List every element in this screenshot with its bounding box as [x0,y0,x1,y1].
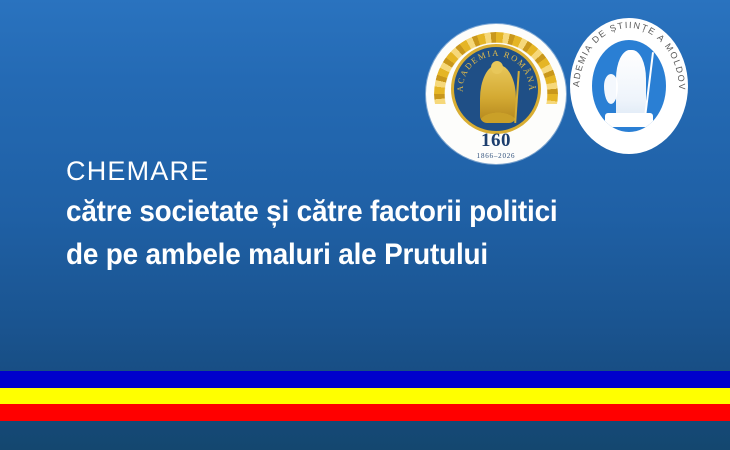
svg-text:ACADEMIA ROMÂNĂ: ACADEMIA ROMÂNĂ [455,48,537,92]
seal-ring-text: ACADEMIA DE ȘTIINȚE A MOLDOVEI [570,18,688,154]
announcement-banner: ACADEMIA ROMÂNĂ 160 1866–2026 [0,0,730,450]
headline-line-2: către societate și către factorii politi… [66,190,643,233]
headline-line-3: de pe ambele maluri ale Prutului [66,233,643,276]
headline-kicker: CHEMARE [66,152,686,190]
emblem-group: ACADEMIA ROMÂNĂ 160 1866–2026 [420,14,710,169]
academia-de-stiinte-a-moldovei-seal-icon: ACADEMIA DE ȘTIINȚE A MOLDOVEI [570,18,688,154]
academia-romana-seal-icon: ACADEMIA ROMÂNĂ 160 1866–2026 [426,24,566,164]
anniversary-number: 160 [426,132,566,150]
stripe-blue [0,371,730,388]
seal-ring-text: ACADEMIA ROMÂNĂ [451,44,541,134]
headline-block: CHEMARE către societate și către factori… [66,152,686,276]
stripe-red [0,404,730,421]
stripe-yellow [0,388,730,404]
romanian-tricolor-stripes [0,371,730,421]
svg-text:ACADEMIA DE ȘTIINȚE A MOLDOVEI: ACADEMIA DE ȘTIINȚE A MOLDOVEI [570,18,687,91]
